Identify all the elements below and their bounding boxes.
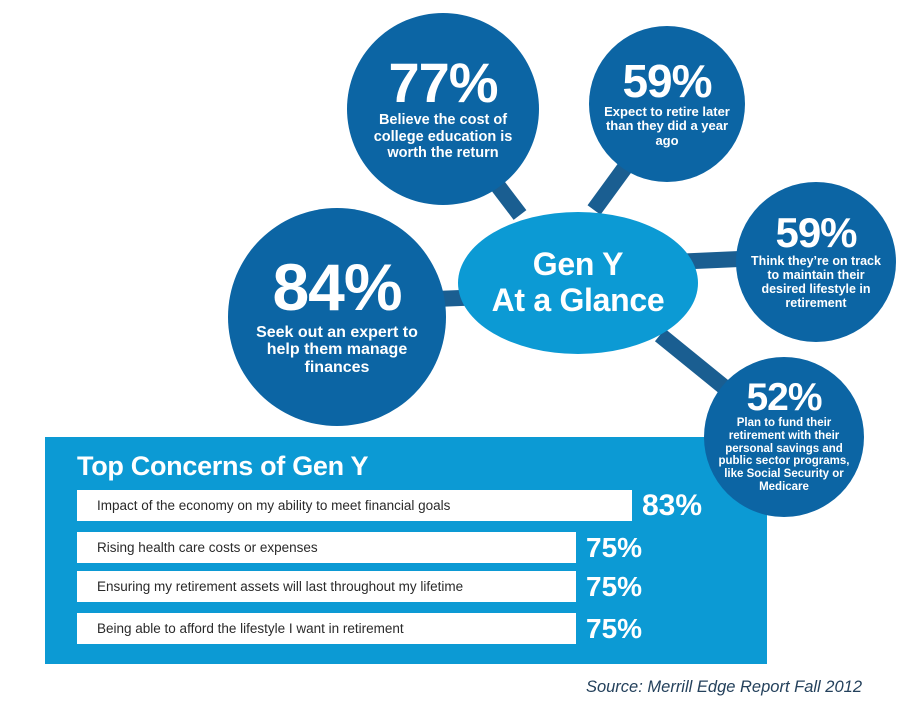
stat-bubble-fund-retirement: 52% Plan to fund their retirement with t…	[704, 357, 864, 517]
stat-percent: 59%	[622, 60, 711, 102]
top-concerns-panel: Top Concerns of Gen Y Impact of the econ…	[45, 437, 767, 664]
stat-bubble-seek-expert: 84% Seek out an expert to help them mana…	[228, 208, 446, 426]
stat-percent: 59%	[775, 214, 856, 253]
concern-label: Rising health care costs or expenses	[97, 540, 318, 555]
stat-bubble-retire-later: 59% Expect to retire later than they did…	[589, 26, 745, 182]
concern-label: Being able to afford the lifestyle I wan…	[97, 621, 404, 636]
concern-row: Being able to afford the lifestyle I wan…	[77, 613, 642, 644]
center-hub-gen-y: Gen Y At a Glance	[458, 212, 698, 354]
concern-row: Impact of the economy on my ability to m…	[77, 490, 702, 521]
infographic-root: 77% Believe the cost of college educatio…	[0, 0, 900, 713]
concern-value: 75%	[586, 615, 642, 643]
stat-description: Expect to retire later than they did a y…	[604, 105, 730, 149]
concern-value: 75%	[586, 534, 642, 562]
stat-bubble-college-cost: 77% Believe the cost of college educatio…	[347, 13, 539, 205]
concern-value: 83%	[642, 491, 702, 521]
concern-label: Ensuring my retirement assets will last …	[97, 579, 463, 594]
center-title-line1: Gen Y	[533, 246, 623, 282]
source-note: Source: Merrill Edge Report Fall 2012	[586, 678, 862, 697]
center-title: Gen Y At a Glance	[492, 247, 665, 319]
concern-bar: Being able to afford the lifestyle I wan…	[77, 613, 576, 644]
concern-bar: Ensuring my retirement assets will last …	[77, 571, 576, 602]
stat-percent: 52%	[746, 380, 821, 416]
stat-description: Think they’re on track to maintain their…	[748, 254, 884, 310]
stat-percent: 77%	[388, 57, 497, 109]
stat-bubble-on-track: 59% Think they’re on track to maintain t…	[736, 182, 896, 342]
concern-value: 75%	[586, 573, 642, 601]
stat-description: Seek out an expert to help them manage f…	[250, 324, 424, 378]
concern-bar: Impact of the economy on my ability to m…	[77, 490, 632, 521]
stat-percent: 84%	[272, 257, 401, 318]
center-title-line2: At a Glance	[492, 282, 665, 318]
stat-description: Plan to fund their retirement with their…	[710, 417, 858, 494]
concern-row: Ensuring my retirement assets will last …	[77, 571, 642, 602]
panel-title: Top Concerns of Gen Y	[77, 451, 368, 482]
concern-label: Impact of the economy on my ability to m…	[97, 498, 450, 513]
concern-bar: Rising health care costs or expenses	[77, 532, 576, 563]
stat-description: Believe the cost of college education is…	[367, 112, 519, 161]
concern-row: Rising health care costs or expenses 75%	[77, 532, 642, 563]
